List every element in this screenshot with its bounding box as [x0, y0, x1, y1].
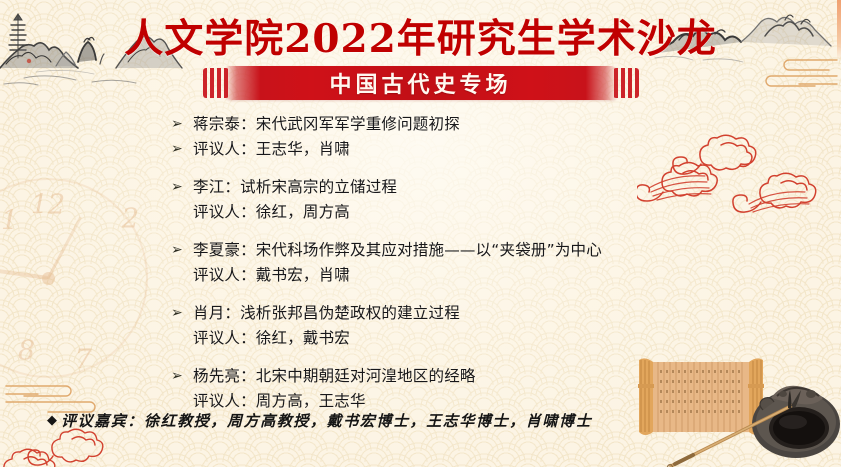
bullet-arrow-icon: ➢ [171, 112, 193, 137]
presenter-text: 李夏豪：宋代科场作弊及其应对措施——以“夹袋册”为中心 [193, 238, 602, 263]
subtitle-banner: 中国古代史专场 [0, 62, 841, 104]
banner-label: 中国古代史专场 [329, 67, 511, 99]
reviewer-row: ➢ 评议人：王志华，肖啸 [171, 137, 691, 162]
bullet-arrow-icon: ➢ [171, 175, 193, 200]
bullet-spacer: ➢ [171, 200, 193, 225]
banner-brush-stroke: 中国古代史专场 [225, 66, 617, 100]
inkstone-icon [752, 386, 840, 458]
right-edge-accent [837, 0, 841, 60]
reviewer-row: ➢ 评议人：徐红，戴书宏 [171, 326, 691, 351]
presentation-slide: 12 11 10 9 8 7 2 [0, 0, 841, 472]
footer-reviewers-line: ◆ 评议嘉宾：徐红教授，周方高教授，戴书宏博士，王志华博士，肖啸博士 [47, 410, 592, 432]
bullet-arrow-icon: ➢ [171, 238, 193, 263]
program-list: ➢ 蒋宗泰：宋代武冈军军学重修问题初探 ➢ 评议人：王志华，肖啸 ➢ 李江：试析… [171, 112, 691, 414]
reviewer-row: ➢ 评议人：戴书宏，肖啸 [171, 263, 691, 288]
presenter-row: ➢ 李夏豪：宋代科场作弊及其应对措施——以“夹袋册”为中心 [171, 238, 691, 263]
program-entry: ➢ 蒋宗泰：宋代武冈军军学重修问题初探 ➢ 评议人：王志华，肖啸 [171, 112, 691, 162]
reviewer-text: 评议人：王志华，肖啸 [193, 137, 350, 162]
clock-numeral-2: 2 [122, 204, 139, 235]
presenter-text: 李江：试析宋高宗的立储过程 [193, 175, 397, 200]
presenter-row: ➢ 肖月：浅析张邦昌伪楚政权的建立过程 [171, 301, 691, 326]
reviewer-text: 评议人：戴书宏，肖啸 [193, 263, 350, 288]
bullet-arrow-icon: ➢ [171, 364, 193, 389]
program-entry: ➢ 肖月：浅析张邦昌伪楚政权的建立过程 ➢ 评议人：徐红，戴书宏 [171, 301, 691, 351]
presenter-row: ➢ 杨先亮：北宋中期朝廷对河湟地区的经略 [171, 364, 691, 389]
clock-numeral-8: 8 [18, 335, 35, 366]
bullet-spacer: ➢ [171, 326, 193, 351]
bottom-white-strip [0, 467, 841, 472]
slide-title: 人文学院2022年研究生学术沙龙 [0, 17, 841, 61]
clock-numeral-11: 11 [0, 206, 18, 237]
diamond-marker-icon: ◆ [47, 410, 57, 432]
bullet-arrow-icon: ➢ [171, 301, 193, 326]
presenter-text: 杨先亮：北宋中期朝廷对河湟地区的经略 [193, 364, 476, 389]
footer-text: 评议嘉宾：徐红教授，周方高教授，戴书宏博士，王志华博士，肖啸博士 [61, 410, 592, 432]
presenter-row: ➢ 蒋宗泰：宋代武冈军军学重修问题初探 [171, 112, 691, 137]
presenter-text: 蒋宗泰：宋代武冈军军学重修问题初探 [193, 112, 460, 137]
program-entry: ➢ 李夏豪：宋代科场作弊及其应对措施——以“夹袋册”为中心 ➢ 评议人：戴书宏，… [171, 238, 691, 288]
reviewer-text: 评议人：徐红，戴书宏 [193, 326, 350, 351]
clock-numeral-7: 7 [75, 345, 92, 376]
clock-numeral-12: 12 [31, 190, 65, 221]
reviewer-row: ➢ 评议人：徐红，周方高 [171, 200, 691, 225]
clock-center-hub [42, 272, 55, 285]
clock-hour-hand [47, 215, 83, 278]
bullet-arrow-icon: ➢ [171, 137, 193, 162]
presenter-row: ➢ 李江：试析宋高宗的立储过程 [171, 175, 691, 200]
program-entry: ➢ 杨先亮：北宋中期朝廷对河湟地区的经略 ➢ 评议人：周方高，王志华 [171, 364, 691, 414]
program-entry: ➢ 李江：试析宋高宗的立储过程 ➢ 评议人：徐红，周方高 [171, 175, 691, 225]
presenter-text: 肖月：浅析张邦昌伪楚政权的建立过程 [193, 301, 460, 326]
bullet-spacer: ➢ [171, 263, 193, 288]
reviewer-text: 评议人：徐红，周方高 [193, 200, 350, 225]
